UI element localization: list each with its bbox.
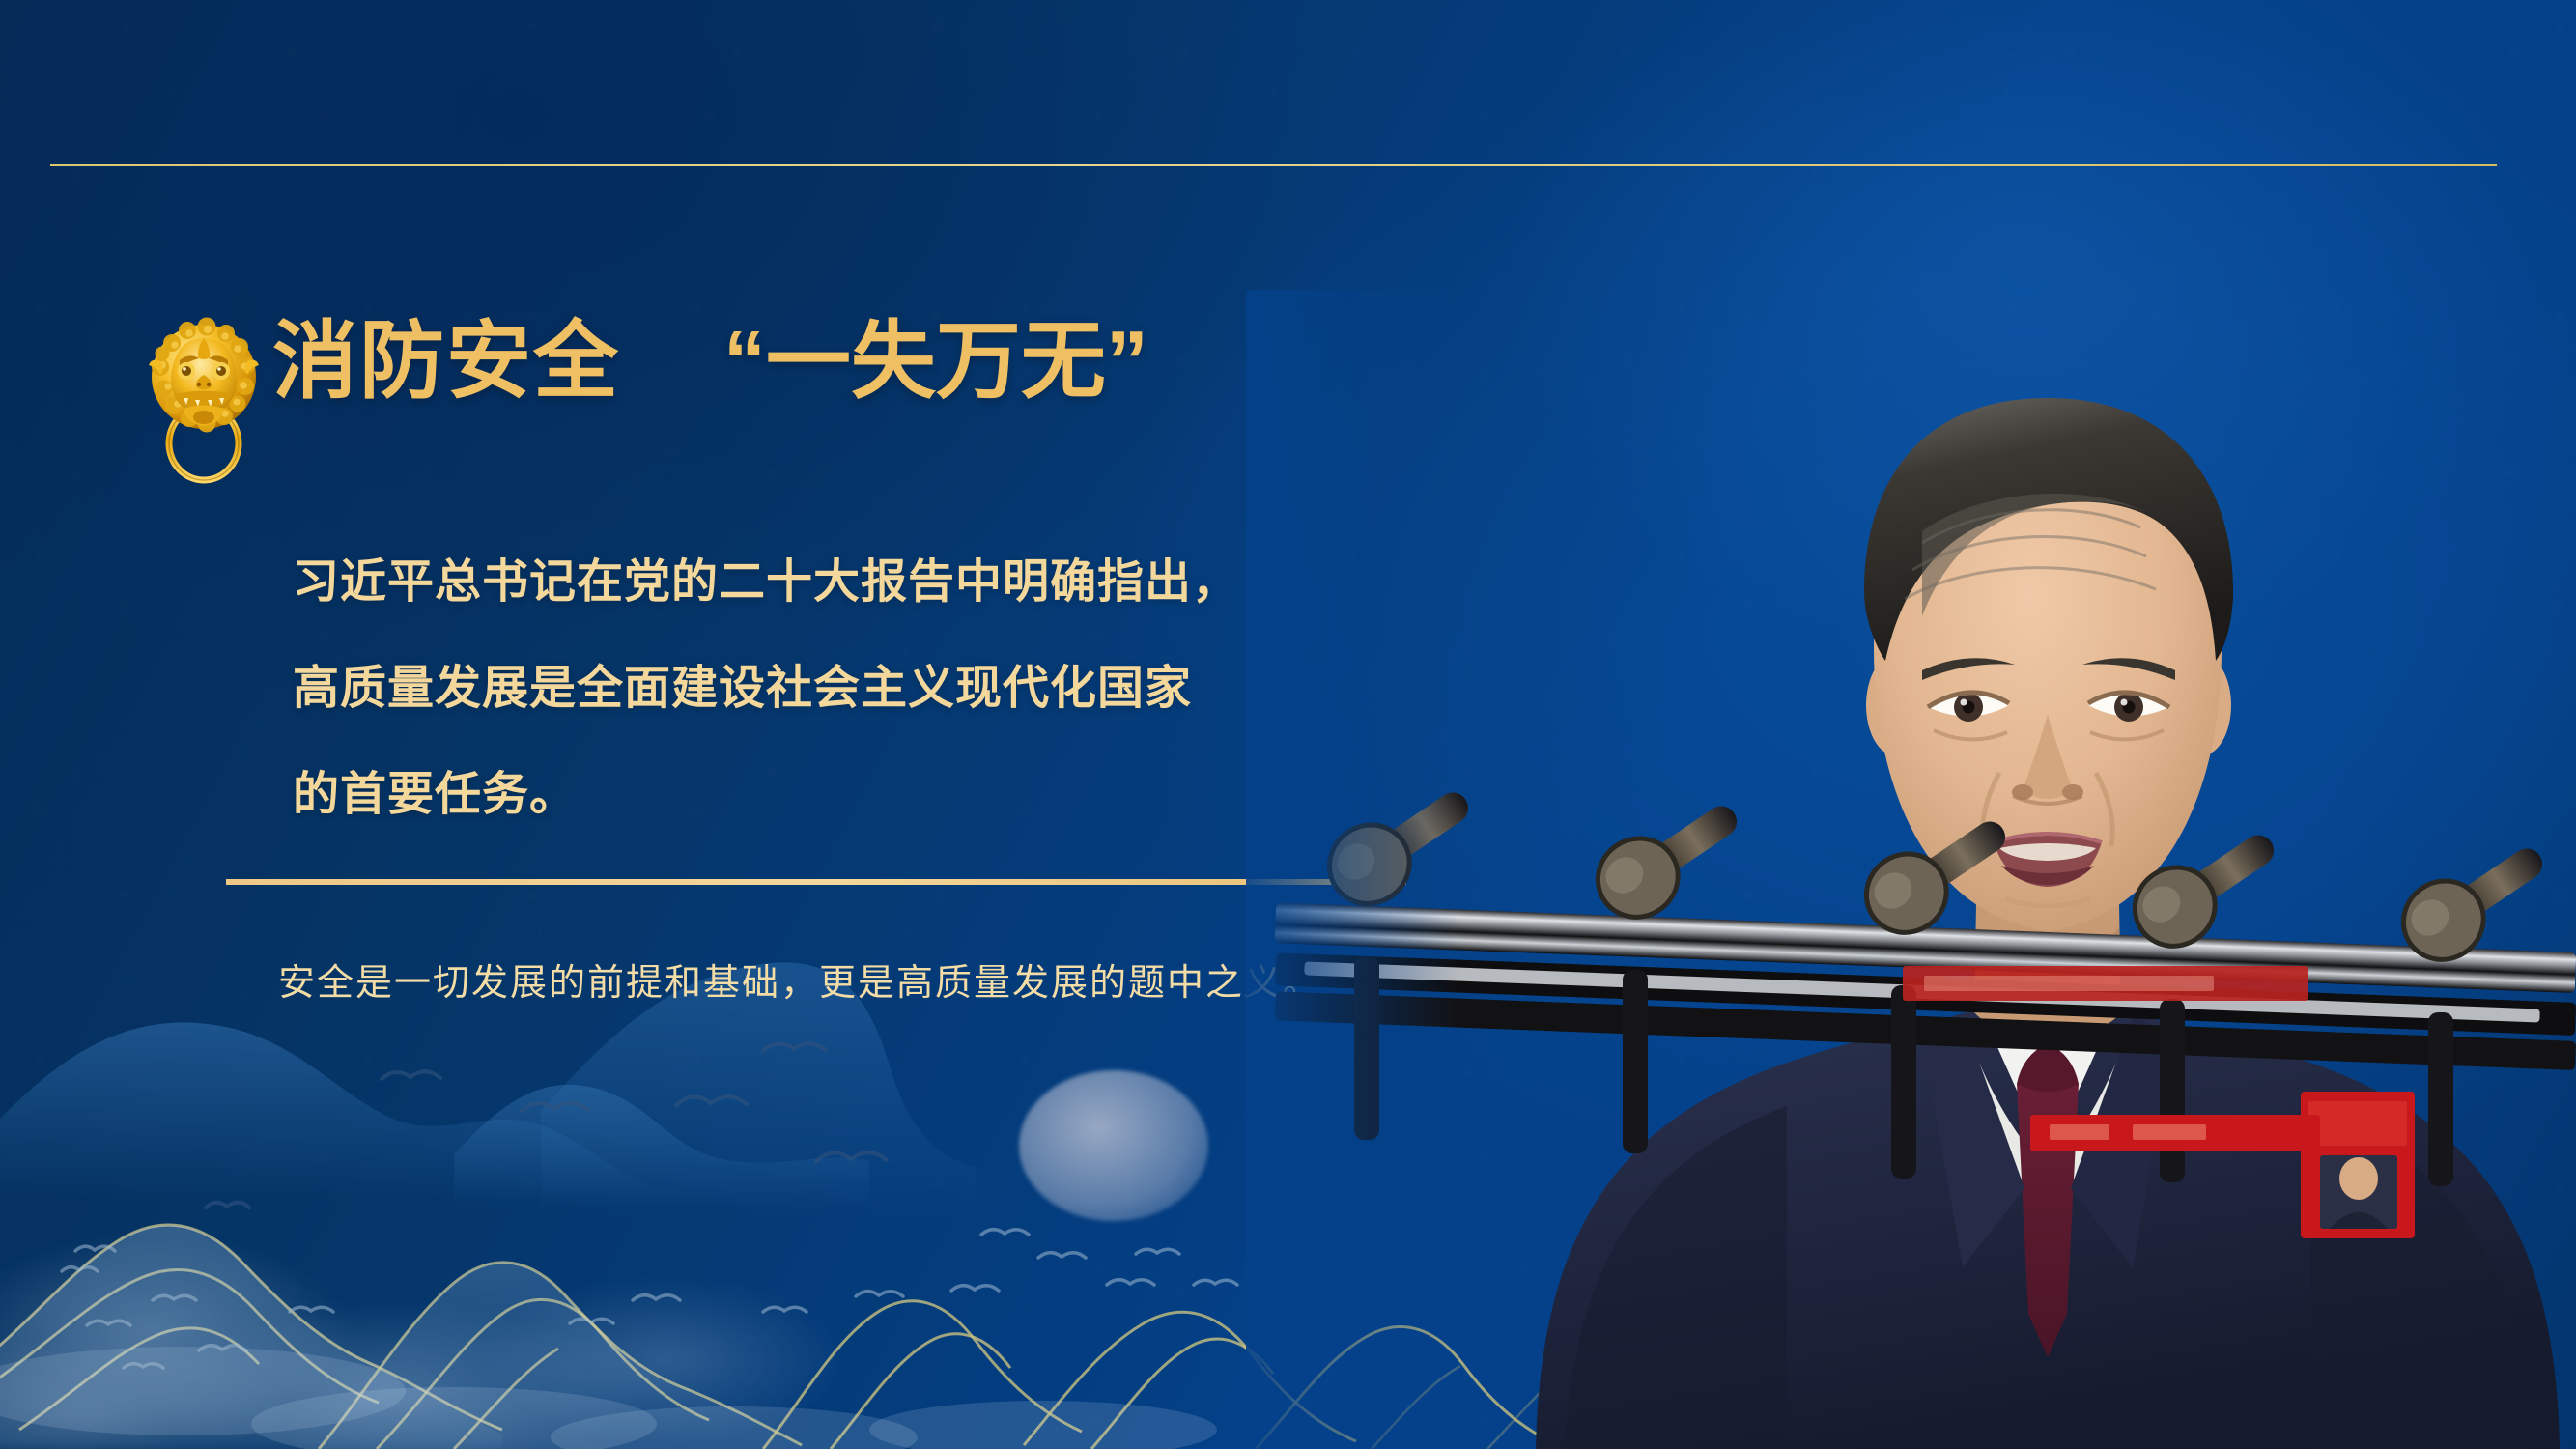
subtitle-text: 安全是一切发展的前提和基础，更是高质量发展的题中之义。 xyxy=(278,958,1321,1009)
page-title: 消防安全 “一失万无” xyxy=(272,319,1148,404)
title-main: 消防安全 xyxy=(272,313,620,409)
speaker-portrait xyxy=(1246,290,2576,1449)
poster-slide: 消防安全 “一失万无” 习近平总书记在党的二十大报告中明确指出， 高质量发展是全… xyxy=(0,0,2576,1449)
section-divider xyxy=(226,879,1406,885)
moon-decoration xyxy=(1019,1070,1208,1221)
title-quoted: “一失万无” xyxy=(723,313,1148,409)
top-divider-rule xyxy=(50,164,2497,166)
lion-door-knocker-icon xyxy=(145,317,263,493)
